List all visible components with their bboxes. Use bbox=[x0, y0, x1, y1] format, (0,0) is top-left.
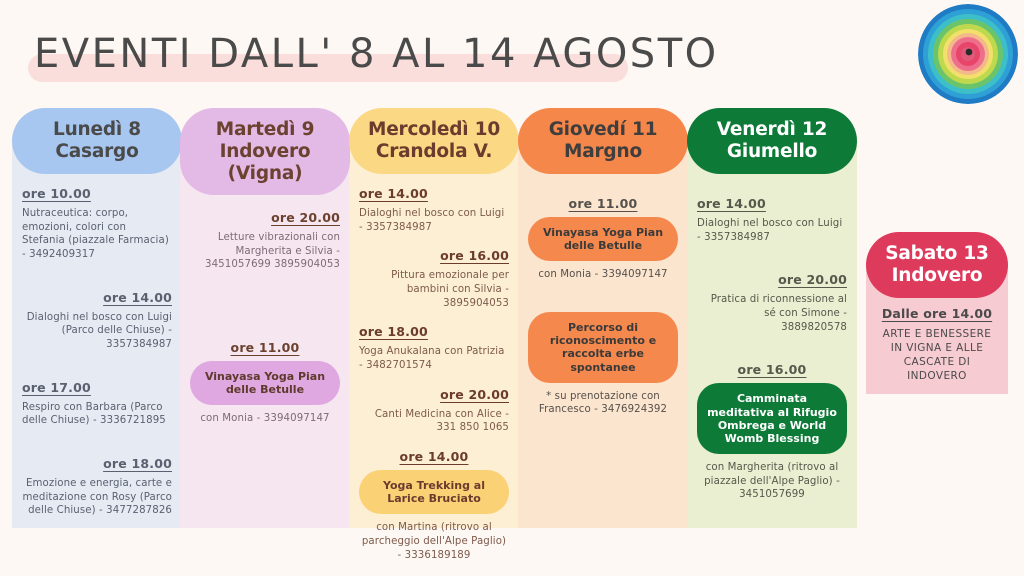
event-time: ore 11.00 bbox=[190, 340, 340, 355]
spacer bbox=[359, 238, 509, 248]
event-block: ore 14.00 Dialoghi nel bosco con Luigi -… bbox=[697, 196, 847, 244]
event-block: Dalle ore 14.00 ARTE E BENESSERE IN VIGN… bbox=[876, 306, 998, 383]
spacer bbox=[190, 276, 340, 316]
event-description: Respiro con Barbara (Parco delle Chiuse)… bbox=[22, 401, 172, 428]
event-description: con Monia - 3394097147 bbox=[528, 268, 678, 282]
spacer bbox=[697, 248, 847, 272]
event-block: ore 18.00 Yoga Anukalana con Patrizia - … bbox=[359, 324, 509, 372]
event-time: ore 14.00 bbox=[697, 196, 847, 211]
day-body: ore 11.00 Vinayasa Yoga Pian delle Betul… bbox=[518, 138, 688, 528]
spacer bbox=[359, 314, 509, 324]
event-time: ore 18.00 bbox=[22, 456, 172, 471]
day-header-martedi[interactable]: Martedì 9 Indovero (Vigna) bbox=[180, 108, 350, 195]
day-name: Lunedì 8 bbox=[18, 119, 176, 141]
day-name: Giovedí 11 bbox=[524, 119, 682, 141]
day-name: Sabato 13 bbox=[872, 243, 1002, 265]
event-time: ore 11.00 bbox=[528, 196, 678, 211]
event-time: ore 16.00 bbox=[359, 248, 509, 263]
event-time: ore 20.00 bbox=[359, 387, 509, 402]
spacer bbox=[359, 377, 509, 387]
spacer bbox=[359, 439, 509, 449]
event-description: Pittura emozionale per bambini con Silvi… bbox=[359, 269, 509, 310]
event-highlight-pill[interactable]: Vinayasa Yoga Pian delle Betulle bbox=[528, 217, 678, 261]
event-time: ore 18.00 bbox=[359, 324, 509, 339]
event-block: ore 16.00 Pittura emozionale per bambini… bbox=[359, 248, 509, 310]
day-place: Indovero (Vigna) bbox=[186, 141, 344, 185]
event-description: Dialoghi nel bosco con Luigi - 335738498… bbox=[697, 217, 847, 244]
events-board: ore 10.00 Nutraceutica: corpo, emozioni,… bbox=[0, 0, 1024, 576]
event-block: ore 20.00 Canti Medicina con Alice - 331… bbox=[359, 387, 509, 435]
event-block: ore 14.00 Yoga Trekking al Larice Brucia… bbox=[359, 449, 509, 562]
day-header-giovedi[interactable]: Giovedí 11 Margno bbox=[518, 108, 688, 174]
event-description: ARTE E BENESSERE IN VIGNA E ALLE CASCATE… bbox=[876, 327, 998, 383]
event-time: ore 14.00 bbox=[359, 449, 509, 464]
event-block: ore 18.00 Emozione e energia, carte e me… bbox=[22, 456, 172, 518]
day-place: Indovero bbox=[872, 265, 1002, 287]
event-time: ore 14.00 bbox=[22, 290, 172, 305]
event-description: Dialoghi nel bosco con Luigi (Parco dell… bbox=[22, 311, 172, 352]
event-highlight-pill[interactable]: Percorso di riconoscimento e raccolta er… bbox=[528, 312, 678, 383]
event-block: Percorso di riconoscimento e raccolta er… bbox=[528, 312, 678, 417]
event-description: con Monia - 3394097147 bbox=[190, 412, 340, 426]
event-block: ore 10.00 Nutraceutica: corpo, emozioni,… bbox=[22, 186, 172, 262]
event-highlight-pill[interactable]: Vinayasa Yoga Pian delle Betulle bbox=[190, 361, 340, 405]
event-block: ore 20.00 Letture vibrazionali con Margh… bbox=[190, 210, 340, 272]
event-description: con Martina (ritrovo al parcheggio dell'… bbox=[359, 521, 509, 562]
event-block: ore 20.00 Pratica di riconnessione al sé… bbox=[697, 272, 847, 334]
event-description: Emozione e energia, carte e meditazione … bbox=[22, 477, 172, 518]
day-name: Martedì 9 bbox=[186, 119, 344, 141]
event-block: ore 16.00 Camminata meditativa al Rifugi… bbox=[697, 362, 847, 502]
spacer bbox=[22, 356, 172, 380]
spacer bbox=[528, 286, 678, 310]
event-description: Yoga Anukalana con Patrizia - 3482701574 bbox=[359, 345, 509, 372]
event-block: ore 14.00 Dialoghi nel bosco con Luigi -… bbox=[359, 186, 509, 234]
event-description: Nutraceutica: corpo, emozioni, colori co… bbox=[22, 207, 172, 262]
spacer bbox=[190, 316, 340, 340]
event-time: ore 14.00 bbox=[359, 186, 509, 201]
day-body: ore 14.00 Dialoghi nel bosco con Luigi -… bbox=[349, 138, 519, 528]
event-time: ore 20.00 bbox=[697, 272, 847, 287]
event-time: ore 10.00 bbox=[22, 186, 172, 201]
event-highlight-pill[interactable]: Camminata meditativa al Rifugio Ombrega … bbox=[697, 383, 847, 454]
event-description: con Margherita (ritrovo al piazzale dell… bbox=[697, 461, 847, 502]
event-time: ore 16.00 bbox=[697, 362, 847, 377]
spacer bbox=[697, 186, 847, 196]
event-description: * su prenotazione con Francesco - 347692… bbox=[528, 390, 678, 417]
event-block: ore 17.00 Respiro con Barbara (Parco del… bbox=[22, 380, 172, 428]
day-place: Casargo bbox=[18, 141, 176, 163]
day-place: Margno bbox=[524, 141, 682, 163]
day-name: Mercoledì 10 bbox=[355, 119, 513, 141]
event-time: ore 17.00 bbox=[22, 380, 172, 395]
event-time: ore 20.00 bbox=[190, 210, 340, 225]
event-highlight-pill[interactable]: Yoga Trekking al Larice Bruciato bbox=[359, 470, 509, 514]
event-description: Pratica di riconnessione al sé con Simon… bbox=[697, 293, 847, 334]
day-place: Giumello bbox=[693, 141, 851, 163]
event-time: Dalle ore 14.00 bbox=[876, 306, 998, 321]
spacer bbox=[528, 186, 678, 196]
spacer bbox=[22, 266, 172, 290]
day-header-sabato[interactable]: Sabato 13 Indovero bbox=[866, 232, 1008, 298]
event-block: ore 14.00 Dialoghi nel bosco con Luigi (… bbox=[22, 290, 172, 352]
event-description: Dialoghi nel bosco con Luigi - 335738498… bbox=[359, 207, 509, 234]
day-body: ore 20.00 Letture vibrazionali con Margh… bbox=[180, 138, 350, 528]
day-header-mercoledi[interactable]: Mercoledì 10 Crandola V. bbox=[349, 108, 519, 174]
event-description: Canti Medicina con Alice - 331 850 1065 bbox=[359, 408, 509, 435]
spacer bbox=[22, 432, 172, 456]
spacer bbox=[697, 338, 847, 362]
day-header-venerdi[interactable]: Venerdì 12 Giumello bbox=[687, 108, 857, 174]
day-body: ore 10.00 Nutraceutica: corpo, emozioni,… bbox=[12, 138, 182, 528]
event-description: Letture vibrazionali con Margherita e Si… bbox=[190, 231, 340, 272]
day-body: ore 14.00 Dialoghi nel bosco con Luigi -… bbox=[687, 138, 857, 528]
event-block: ore 11.00 Vinayasa Yoga Pian delle Betul… bbox=[528, 196, 678, 282]
event-block: ore 11.00 Vinayasa Yoga Pian delle Betul… bbox=[190, 340, 340, 426]
day-header-lunedi[interactable]: Lunedì 8 Casargo bbox=[12, 108, 182, 174]
day-place: Crandola V. bbox=[355, 141, 513, 163]
day-name: Venerdì 12 bbox=[693, 119, 851, 141]
